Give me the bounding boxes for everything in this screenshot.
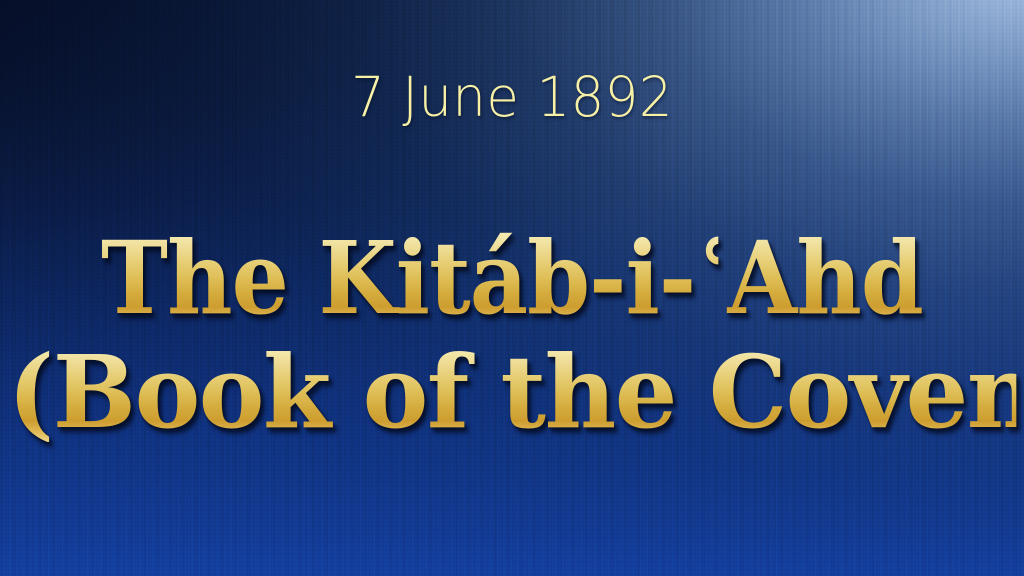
slide-title: The Kitáb-i-ʿAhd (Book of the Covenant) — [0, 228, 1024, 442]
title-line-primary: The Kitáb-i-ʿAhd — [51, 228, 973, 328]
title-slide: 7 June 1892 The Kitáb-i-ʿAhd (Book of th… — [0, 0, 1024, 576]
title-line-secondary: (Book of the Covenant) — [8, 342, 1017, 442]
slide-date: 7 June 1892 — [20, 70, 1003, 125]
slide-content: 7 June 1892 The Kitáb-i-ʿAhd (Book of th… — [0, 0, 1024, 576]
